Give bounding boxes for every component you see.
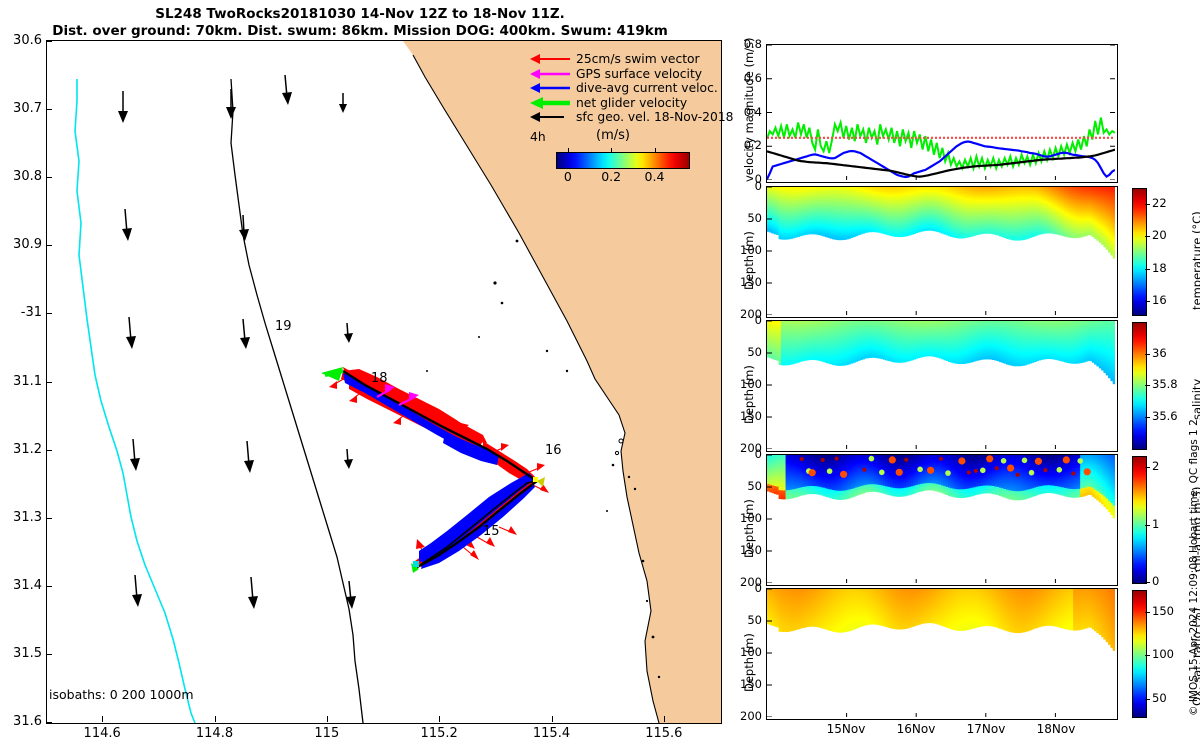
velocity-y-tick-label: 0.6 (730, 71, 762, 85)
temperature-colorbar[interactable] (1132, 188, 1147, 316)
section-y-tick-label: 150 (726, 677, 762, 691)
copyright-notice: © IMOS 15-Apr-2024 12:09:08 Hobart time.… (1188, 419, 1200, 716)
isobaths-caption: isobaths: 0 200 1000m (49, 687, 194, 702)
map-y-tick-mark (46, 586, 52, 587)
legend-label-net-glider-velocity: net glider velocity (576, 96, 687, 110)
map-x-tick-label: 114.6 (72, 726, 132, 741)
section-x-tick-label: 17Nov (956, 722, 1016, 736)
section-y-tick-label: 100 (726, 243, 762, 257)
map-y-tick-mark (46, 313, 52, 314)
oxygen-section-plot[interactable] (766, 588, 1118, 720)
section-y-tick-label: 150 (726, 543, 762, 557)
colorbar-tick-label: 16 (1152, 293, 1167, 307)
oxygen-section-graphics (767, 589, 1115, 717)
map-colorbar-tick-mark (655, 148, 656, 153)
net-glider-velocity-arrow-icon (528, 97, 570, 109)
velocity-magnitude-plot[interactable] (766, 44, 1118, 183)
colorbar-tick-mark (1145, 699, 1150, 700)
map-y-tick-mark (46, 41, 52, 42)
section-y-tick-label: 0 (726, 313, 762, 327)
chlorophyll-section-plot[interactable] (766, 454, 1118, 586)
map-y-tick-mark (46, 518, 52, 519)
colorbar-tick-mark (1145, 417, 1150, 418)
map-y-tick-label: 30.9 (0, 237, 42, 252)
colorbar-tick-label: 35.6 (1152, 409, 1178, 423)
section-y-tick-label: 0 (726, 447, 762, 461)
map-y-tick-mark (46, 177, 52, 178)
colorbar-tick-label: 50 (1152, 691, 1167, 705)
salinity-colorbar[interactable] (1132, 322, 1147, 450)
map-y-tick-label: 31.1 (0, 374, 42, 389)
colorbar-tick-label: 0 (1152, 574, 1159, 588)
colorbar-tick-label: 35.8 (1152, 377, 1178, 391)
colorbar-tick-label: 2 (1152, 459, 1159, 473)
map-x-tick-label: 114.8 (185, 726, 245, 741)
map-colorbar-tick-label: 0.2 (591, 169, 631, 184)
velocity-series-graphics (767, 45, 1115, 180)
map-y-tick-mark (46, 654, 52, 655)
map-x-tick-mark (664, 716, 665, 722)
track-day-label-19: 19 (275, 319, 292, 334)
section-y-tick-label: 100 (726, 377, 762, 391)
map-x-tick-label: 115 (297, 726, 357, 741)
section-y-tick-label: 50 (726, 211, 762, 225)
legend-item-net-glider-velocity: net glider velocity (528, 96, 708, 111)
section-y-tick-label: 150 (726, 275, 762, 289)
map-y-tick-label: 31.4 (0, 578, 42, 593)
section-y-tick-label: 50 (726, 613, 762, 627)
swim-vector-arrow-icon (528, 53, 570, 65)
temperature-colorbar-label: temperature (°C) (1190, 211, 1200, 310)
salinity-colorbar-label: salinity (1190, 379, 1200, 420)
colorbar-tick-mark (1145, 204, 1150, 205)
temperature-section-graphics (767, 187, 1115, 315)
legend-item-swim-vector: 25cm/s swim vector (528, 52, 708, 67)
velocity-y-tick-label: 0.2 (730, 138, 762, 152)
colorbar-tick-label: 150 (1152, 604, 1174, 618)
track-day-label-15: 15 (483, 524, 500, 539)
colorbar-tick-mark (1145, 525, 1150, 526)
map-x-tick-label: 115.6 (634, 726, 694, 741)
legend-item-gps-surface-velocity: GPS surface velocity (528, 67, 708, 82)
map-y-tick-label: 31.3 (0, 510, 42, 525)
colorbar-tick-mark (1145, 385, 1150, 386)
map-y-tick-mark (46, 245, 52, 246)
map-x-tick-mark (439, 716, 440, 722)
colorbar-tick-mark (1145, 269, 1150, 270)
map-y-tick-label: 31.2 (0, 442, 42, 457)
map-colorbar-tick-mark (611, 148, 612, 153)
map-y-tick-mark (46, 722, 52, 723)
map-x-tick-label: 115.2 (409, 726, 469, 741)
track-day-label-18: 18 (371, 371, 388, 386)
map-x-tick-mark (327, 716, 328, 722)
title-line-2: Dist. over ground: 70km. Dist. swum: 86k… (0, 23, 720, 40)
colorbar-tick-mark (1145, 612, 1150, 613)
colorbar-tick-label: 22 (1152, 196, 1167, 210)
map-colorbar-units: (m/s) (596, 128, 630, 143)
section-x-tick-label: 16Nov (886, 722, 946, 736)
colorbar-tick-mark (1145, 236, 1150, 237)
velocity-y-tick-label: 0.4 (730, 105, 762, 119)
section-y-tick-label: 200 (726, 709, 762, 723)
map-x-tick-mark (102, 716, 103, 722)
colorbar-tick-label: 36 (1152, 346, 1167, 360)
legend-label-swim-vector: 25cm/s swim vector (576, 52, 700, 66)
title-line-1: SL248 TwoRocks20181030 14-Nov 12Z to 18-… (0, 6, 720, 23)
colorbar-tick-mark (1145, 655, 1150, 656)
legend-label-gps-surface-velocity: GPS surface velocity (576, 67, 702, 81)
section-y-tick-label: 0 (726, 581, 762, 595)
track-day-label-16: 16 (545, 443, 562, 458)
section-y-tick-label: 0 (726, 179, 762, 193)
section-y-tick-label: 100 (726, 645, 762, 659)
colorbar-tick-mark (1145, 467, 1150, 468)
velocity-y-tick-label: 0.8 (730, 37, 762, 51)
map-x-tick-label: 115.4 (522, 726, 582, 741)
map-y-tick-label: 31.6 (0, 714, 42, 729)
section-y-tick-label: 50 (726, 345, 762, 359)
scale-label-4h: 4h (530, 130, 546, 144)
section-y-tick-label: 50 (726, 479, 762, 493)
map-colorbar-tick-mark (568, 148, 569, 153)
sfc-geo-velocity-arrow-icon (528, 111, 570, 123)
colorbar-tick-label: 20 (1152, 228, 1167, 242)
salinity-section-plot[interactable] (766, 320, 1118, 452)
map-colorbar-tick-label: 0 (548, 169, 588, 184)
colorbar-tick-mark (1145, 301, 1150, 302)
map-y-tick-label: 30.7 (0, 101, 42, 116)
colorbar-tick-label: 18 (1152, 261, 1167, 275)
page-title: SL248 TwoRocks20181030 14-Nov 12Z to 18-… (0, 6, 720, 41)
map-colorbar-tick-label: 0.4 (635, 169, 675, 184)
map-x-tick-mark (215, 716, 216, 722)
gps-velocity-arrow-icon (528, 68, 570, 80)
dive-avg-current-arrow-icon (528, 82, 570, 94)
section-x-tick-label: 18Nov (1026, 722, 1086, 736)
map-y-tick-label: 30.6 (0, 33, 42, 48)
map-y-tick-mark (46, 450, 52, 451)
map-y-tick-label: -31 (0, 305, 42, 320)
map-y-tick-label: 31.5 (0, 646, 42, 661)
map-y-tick-label: 30.8 (0, 169, 42, 184)
colorbar-tick-mark (1145, 582, 1150, 583)
legend-label-dive-avg-current: dive-avg current veloc. (576, 81, 718, 95)
salinity-section-graphics (767, 321, 1115, 449)
chlorophyll-section-graphics (767, 455, 1115, 583)
map-y-tick-mark (46, 109, 52, 110)
section-x-tick-label: 15Nov (816, 722, 876, 736)
legend-item-dive-avg-current: dive-avg current veloc. (528, 81, 708, 96)
colorbar-tick-label: 100 (1152, 647, 1174, 661)
colorbar-tick-label: 1 (1152, 517, 1159, 531)
map-legend: 25cm/s swim vector GPS surface velocity … (528, 52, 708, 125)
colorbar-tick-mark (1145, 354, 1150, 355)
map-y-tick-mark (46, 382, 52, 383)
temperature-section-plot[interactable] (766, 186, 1118, 318)
legend-label-sfc-geo-velocity: sfc geo. vel. 18-Nov-2018 (576, 110, 733, 124)
section-y-tick-label: 100 (726, 511, 762, 525)
map-colorbar[interactable] (556, 152, 690, 169)
chlorophyll-colorbar[interactable] (1132, 456, 1147, 584)
section-y-tick-label: 150 (726, 409, 762, 423)
map-x-tick-mark (552, 716, 553, 722)
legend-item-sfc-geo-velocity: sfc geo. vel. 18-Nov-2018 (528, 110, 708, 125)
